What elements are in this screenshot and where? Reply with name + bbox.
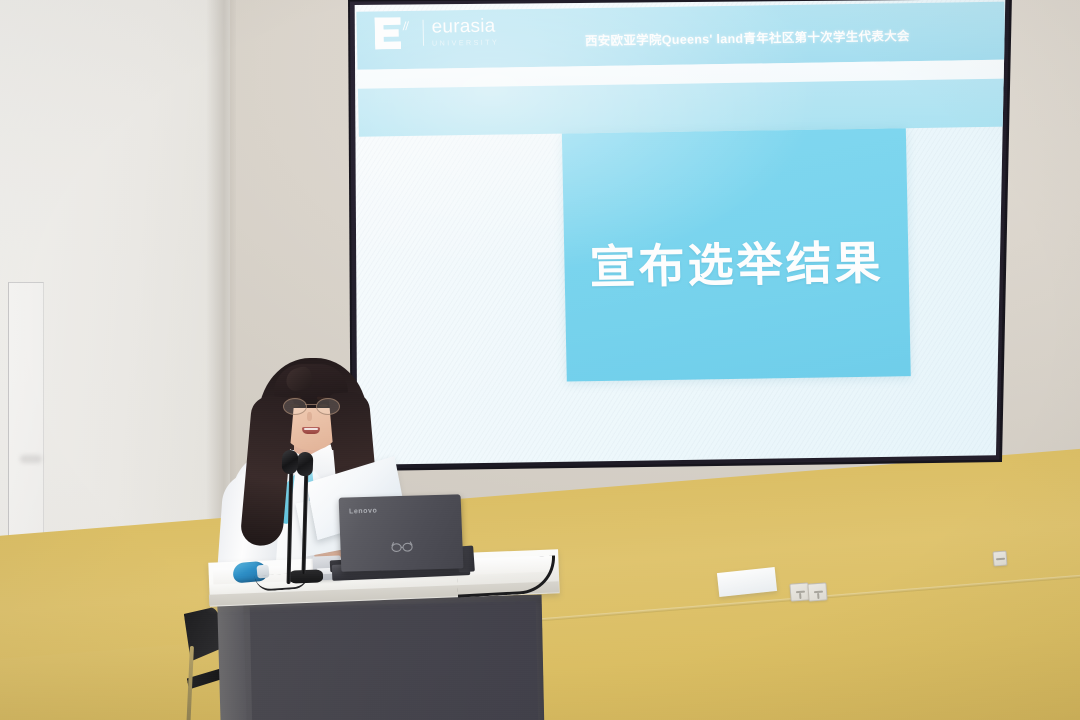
logo-subtitle-university: UNIVERSITY [432,39,499,47]
outlet-slot [799,593,801,599]
slide-content: // eurasia UNIVERSITY 西安欧亚学院Queens' land… [344,0,1012,474]
wall-mark [20,455,42,463]
light-switch-icon [992,551,1007,567]
wall-outlet-icon [807,582,827,601]
podium-body-panel [250,601,539,720]
logo-e-mark [374,17,401,49]
switch-slot [996,557,1005,560]
slide-title-text: 宣布选举结果 [564,226,909,297]
microphone-foreground [214,352,414,588]
microphone-head-front [282,450,299,475]
screen-surface: // eurasia UNIVERSITY 西安欧亚学院Queens' land… [344,0,1012,474]
logo-word-eurasia: eurasia [431,17,499,37]
eurasia-logo: // eurasia UNIVERSITY [374,16,499,50]
screenshot-root: // eurasia UNIVERSITY 西安欧亚学院Queens' land… [0,0,1080,720]
microphone-stem-front [287,464,294,584]
projection-screen: // eurasia UNIVERSITY 西安欧亚学院Queens' land… [344,0,1012,474]
outlet-slot [817,593,819,599]
podium-body-side [217,602,247,720]
slide-banner-bar [358,79,1007,137]
logo-slashes: // [402,18,408,34]
logo-wordmark: eurasia UNIVERSITY [431,17,499,47]
slide-title-card: 宣布选举结果 [562,128,911,381]
logo-divider [423,20,425,46]
